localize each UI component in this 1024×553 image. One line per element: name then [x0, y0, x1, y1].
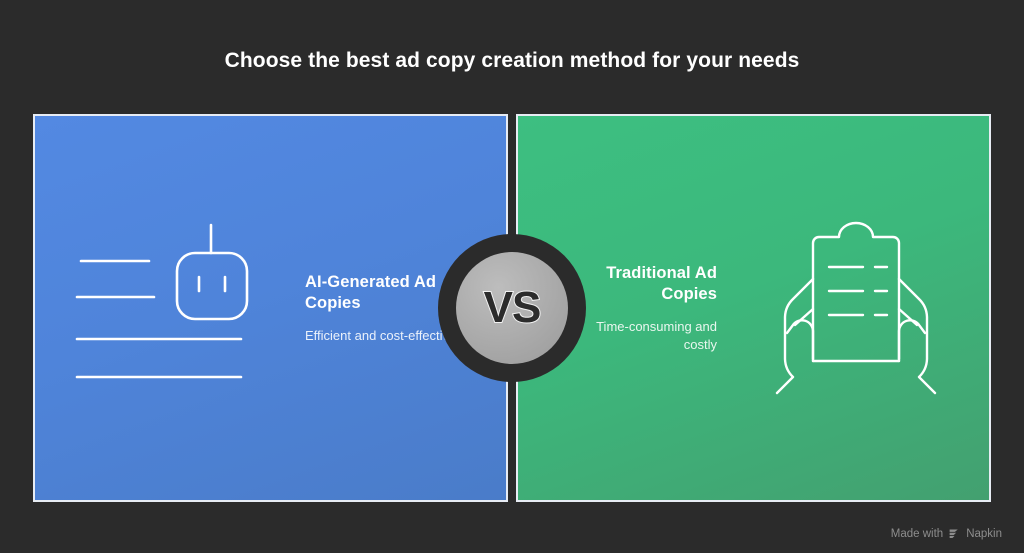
- robot-head-icon: [69, 213, 267, 403]
- napkin-logo-icon: [948, 527, 961, 540]
- versus-disc: VS: [456, 252, 568, 364]
- hands-holding-clipboard-icon: [757, 213, 955, 403]
- versus-label: VS: [484, 283, 541, 333]
- panel-left-content: AI-Generated Ad Copies Efficient and cos…: [35, 116, 506, 500]
- page-title: Choose the best ad copy creation method …: [0, 49, 1024, 73]
- comparison-panel-left[interactable]: AI-Generated Ad Copies Efficient and cos…: [33, 114, 508, 502]
- footer-made-with-label: Made with: [891, 528, 943, 540]
- panel-right-content: Traditional Ad Copies Time-consuming and…: [518, 116, 989, 500]
- footer-brand-label: Napkin: [966, 528, 1002, 540]
- versus-badge: VS: [438, 234, 586, 382]
- comparison-panel-right[interactable]: Traditional Ad Copies Time-consuming and…: [516, 114, 991, 502]
- footer-attribution[interactable]: Made with Napkin: [891, 527, 1002, 540]
- panel-left-subtext: Efficient and cost-effective: [305, 327, 461, 345]
